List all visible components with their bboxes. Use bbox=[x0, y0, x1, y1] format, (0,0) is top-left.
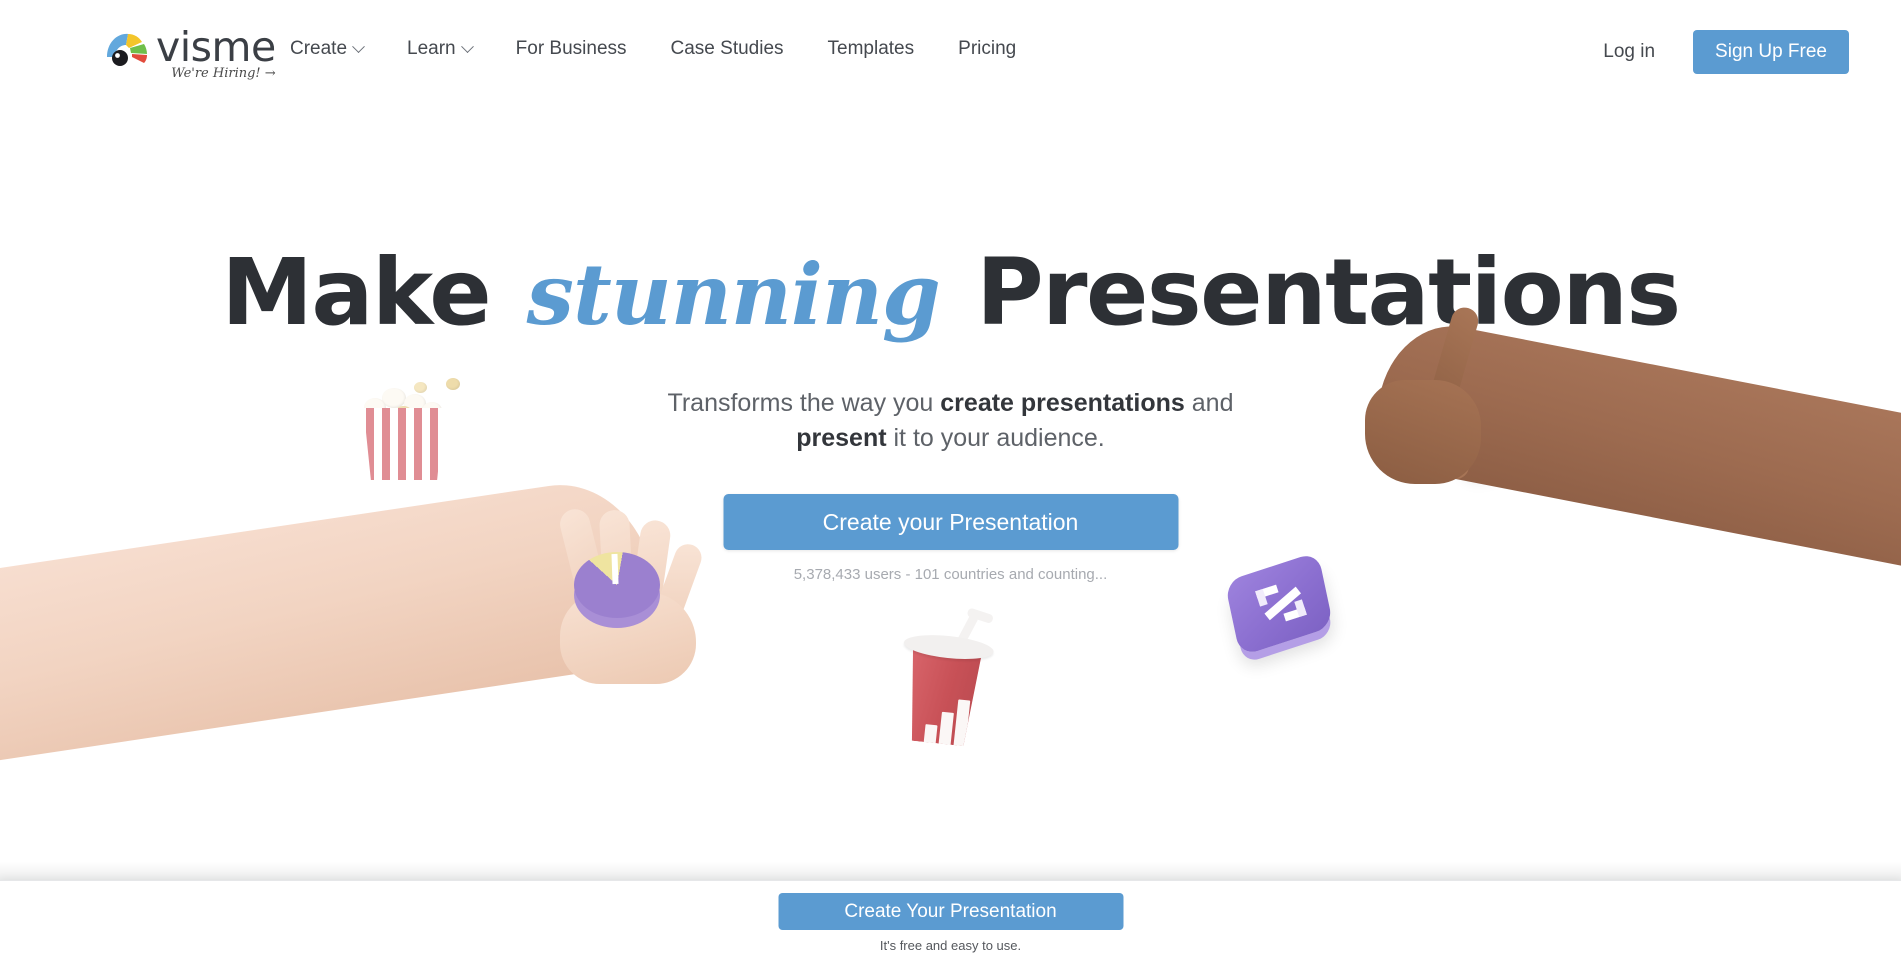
nav-item-pricing[interactable]: Pricing bbox=[958, 38, 1016, 60]
subhead-text-3: it to your audience. bbox=[887, 424, 1105, 452]
chevron-down-icon bbox=[352, 40, 365, 53]
bottom-bar-note: It's free and easy to use. bbox=[0, 938, 1901, 953]
nav-item-label: Create bbox=[290, 38, 347, 60]
bar-chart-bar bbox=[924, 724, 938, 745]
site-header: visme We're Hiring! → Create Learn For B… bbox=[0, 0, 1901, 98]
create-presentation-button[interactable]: Create your Presentation bbox=[723, 494, 1178, 550]
nav-item-label: Learn bbox=[407, 38, 456, 60]
popcorn-box bbox=[358, 408, 450, 480]
page-title: Make stunning Presentations bbox=[0, 238, 1901, 350]
nav-item-create[interactable]: Create bbox=[290, 38, 363, 60]
visme-fan-logo-icon bbox=[104, 28, 148, 68]
purple-shuffle-cube-illustration bbox=[1224, 556, 1342, 664]
nav-item-label: For Business bbox=[516, 38, 627, 60]
nav-item-for-business[interactable]: For Business bbox=[516, 38, 627, 60]
right-hand-illustration bbox=[1331, 306, 1491, 496]
sticky-bottom-bar: Create Your Presentation It's free and e… bbox=[0, 880, 1901, 964]
pie-chart-slice-gap bbox=[611, 554, 618, 584]
headline-part-1: Make bbox=[221, 239, 490, 346]
nav-item-learn[interactable]: Learn bbox=[407, 38, 472, 60]
logo-hiring-tagline[interactable]: We're Hiring! → bbox=[171, 66, 275, 81]
nav-item-templates[interactable]: Templates bbox=[828, 38, 915, 60]
landing-page: visme We're Hiring! → Create Learn For B… bbox=[0, 0, 1901, 964]
soda-cup-illustration bbox=[892, 615, 1001, 750]
subhead-bold-1: create presentations bbox=[940, 389, 1185, 417]
pie-chart-illustration bbox=[572, 548, 664, 634]
bar-chart-bar bbox=[938, 712, 953, 747]
popcorn-illustration bbox=[348, 362, 460, 480]
hero-section: Make stunning Presentations Transforms t… bbox=[0, 0, 1901, 880]
bar-chart-bar bbox=[953, 699, 970, 748]
bottom-create-presentation-button[interactable]: Create Your Presentation bbox=[778, 893, 1123, 930]
subhead-text-2: and bbox=[1185, 389, 1234, 417]
logo-text-wrap: visme We're Hiring! → bbox=[156, 26, 276, 68]
logo[interactable]: visme We're Hiring! → bbox=[104, 26, 276, 68]
nav-item-label: Pricing bbox=[958, 38, 1016, 60]
bottom-bar-shadow-gradient bbox=[0, 862, 1901, 880]
headline-script-word: stunning bbox=[521, 245, 946, 344]
popcorn-kernel bbox=[446, 378, 460, 390]
nav-item-case-studies[interactable]: Case Studies bbox=[671, 38, 784, 60]
header-actions: Log in Sign Up Free bbox=[1603, 30, 1849, 74]
chevron-down-icon bbox=[461, 40, 474, 53]
popcorn-kernel bbox=[414, 382, 427, 393]
signup-free-button[interactable]: Sign Up Free bbox=[1693, 30, 1849, 74]
login-link[interactable]: Log in bbox=[1603, 41, 1655, 63]
subhead-bold-2: present bbox=[796, 424, 886, 452]
palm bbox=[1365, 380, 1481, 484]
nav-item-label: Case Studies bbox=[671, 38, 784, 60]
headline-part-2: Presentations bbox=[976, 239, 1679, 346]
subhead-text-1: Transforms the way you bbox=[668, 389, 941, 417]
main-navigation: Create Learn For Business Case Studies T… bbox=[290, 38, 1016, 60]
logo-wordmark: visme bbox=[156, 26, 276, 68]
nav-item-label: Templates bbox=[828, 38, 915, 60]
